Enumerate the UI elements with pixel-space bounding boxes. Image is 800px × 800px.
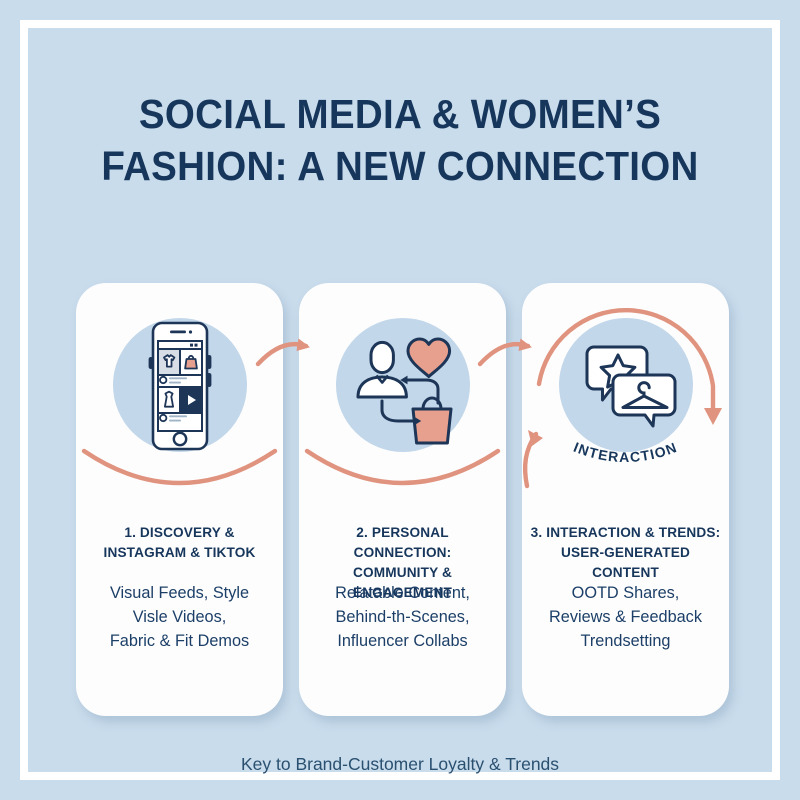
card-body-line-1: Relatable Content, (305, 581, 500, 605)
arrow-card1-to-card2 (256, 330, 316, 400)
card-heading-line-1: 1. DISCOVERY & (84, 523, 275, 543)
card-body: OOTD Shares, Reviews & Feedback Trendset… (528, 581, 723, 653)
decorative-arc-1 (74, 443, 285, 505)
page-title-line-1: SOCIAL MEDIA & WOMEN’S (139, 91, 661, 137)
card-body: Visual Feeds, Style Visle Videos, Fabric… (82, 581, 277, 653)
card-heading-line-2: INSTAGRAM & TIKTOK (84, 543, 275, 563)
card-body-line-2: Behind-th-Scenes, (305, 605, 500, 629)
person-heart-shopping-bag-icon (299, 313, 506, 459)
card-heading-line-1: 2. PERSONAL CONNECTION: (307, 523, 498, 563)
card-heading: 1. DISCOVERY & INSTAGRAM & TIKTOK (84, 523, 275, 563)
card-body-line-3: Trendsetting (528, 629, 723, 653)
card-heading: 3. INTERACTION & TRENDS: USER-GENERATED … (530, 523, 721, 583)
smartphone-social-feed-icon (76, 313, 283, 459)
infographic-canvas: SOCIAL MEDIA & WOMEN’S FASHION: A NEW CO… (0, 0, 800, 800)
step-card-personal-connection[interactable]: 2. PERSONAL CONNECTION: COMMUNITY & ENGA… (299, 283, 506, 716)
step-card-discovery[interactable]: 1. DISCOVERY & INSTAGRAM & TIKTOK Visual… (76, 283, 283, 716)
decorative-arc-2 (297, 443, 508, 505)
card-body-line-2: Reviews & Feedback (528, 605, 723, 629)
card-heading-line-2: USER-GENERATED CONTENT (530, 543, 721, 583)
footer-caption: Key to Brand-Customer Loyalty & Trends (60, 754, 740, 775)
card-body-line-1: OOTD Shares, (528, 581, 723, 605)
card-body: Relatable Content, Behind-th-Scenes, Inf… (305, 581, 500, 653)
loop-arrow-card3 (505, 288, 751, 498)
card-body-line-1: Visual Feeds, Style (82, 581, 277, 605)
card-body-line-2: Visle Videos, (82, 605, 277, 629)
page-title-line-2: FASHION: A NEW CONNECTION (80, 140, 719, 192)
card-body-line-3: Fabric & Fit Demos (82, 629, 277, 653)
card-heading-line-1: 3. INTERACTION & TRENDS: (530, 523, 721, 543)
page-title: SOCIAL MEDIA & WOMEN’S FASHION: A NEW CO… (80, 88, 719, 192)
card-body-line-3: Influencer Collabs (305, 629, 500, 653)
